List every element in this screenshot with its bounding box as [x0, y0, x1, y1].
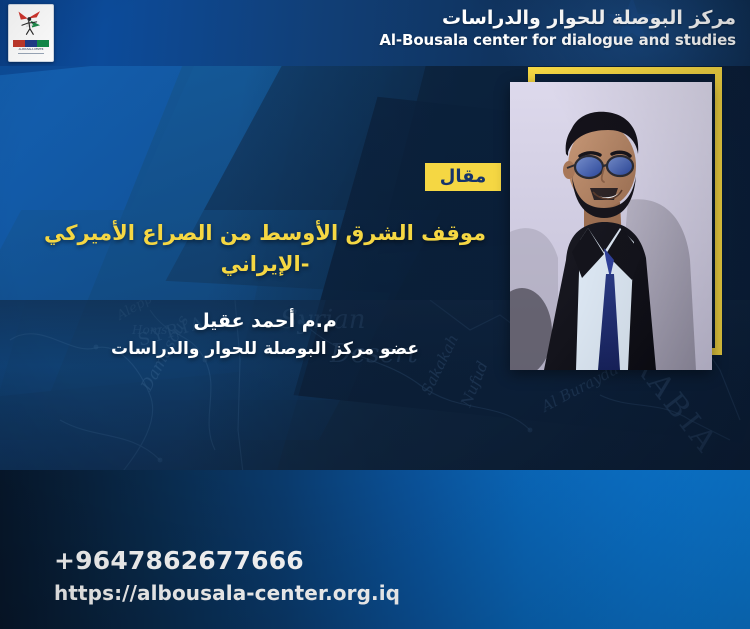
site-logo[interactable]: AL-BOUSALA CENTER: [8, 4, 54, 62]
logo-flag-band: [13, 40, 49, 47]
site-title-arabic: مركز البوصلة للحوار والدراسات: [379, 8, 736, 30]
article-type-label: مقال: [440, 168, 486, 186]
article-type-badge: مقال: [425, 163, 501, 191]
logo-caption: AL-BOUSALA CENTER: [10, 48, 52, 51]
author-name: م.م أحمد عقيل: [30, 308, 500, 336]
article-poster: Syrian Desert SYRIA Damascus Sakakah Nuf…: [0, 0, 750, 629]
site-title-english: Al-Bousala center for dialogue and studi…: [379, 32, 736, 49]
compass-figure-icon: [14, 8, 48, 38]
article-title: موقف الشرق الأوسط من الصراع الأميركي -ال…: [30, 218, 500, 280]
author-portrait: [510, 82, 712, 370]
contact-phone[interactable]: +9647862677666: [54, 546, 400, 576]
logo-divider: [18, 53, 44, 54]
author-role: عضو مركز البوصلة للحوار والدراسات: [30, 337, 500, 362]
author-block: م.م أحمد عقيل عضو مركز البوصلة للحوار وا…: [30, 308, 500, 361]
contact-website[interactable]: https://albousala-center.org.iq: [54, 580, 400, 606]
header-titles: مركز البوصلة للحوار والدراسات Al-Bousala…: [379, 8, 736, 49]
portrait-illustration: [510, 82, 712, 370]
site-header: مركز البوصلة للحوار والدراسات Al-Bousala…: [0, 0, 750, 66]
contact-block: +9647862677666 https://albousala-center.…: [54, 546, 400, 606]
